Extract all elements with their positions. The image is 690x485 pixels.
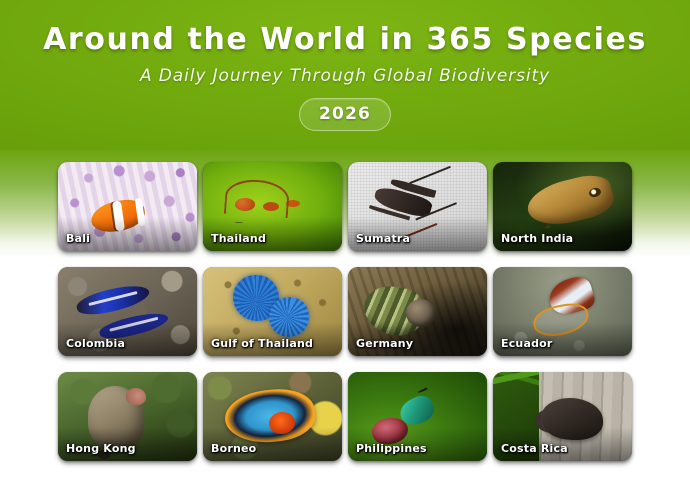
poster-root: Around the World in 365 Species A Daily … <box>0 0 690 485</box>
species-card[interactable]: Philippines <box>348 372 487 461</box>
species-card[interactable]: Germany <box>348 267 487 356</box>
species-card[interactable]: Colombia <box>58 267 197 356</box>
year-badge: 2026 <box>299 98 391 131</box>
species-card-label: Borneo <box>211 442 256 455</box>
page-subtitle: A Daily Journey Through Global Biodivers… <box>0 56 690 86</box>
species-card[interactable]: Costa Rica <box>493 372 632 461</box>
species-card[interactable]: Sumatra <box>348 162 487 251</box>
page-title: Around the World in 365 Species <box>0 0 690 56</box>
species-gallery-grid: BaliThailandSumatraNorth IndiaColombiaGu… <box>58 162 632 461</box>
species-card[interactable]: Thailand <box>203 162 342 251</box>
species-card-label: North India <box>501 232 573 245</box>
species-card-label: Philippines <box>356 442 427 455</box>
species-card-label: Costa Rica <box>501 442 568 455</box>
species-card[interactable]: Hong Kong <box>58 372 197 461</box>
species-card[interactable]: North India <box>493 162 632 251</box>
species-card-label: Gulf of Thailand <box>211 337 313 350</box>
species-card-label: Ecuador <box>501 337 553 350</box>
species-card-label: Colombia <box>66 337 125 350</box>
species-card[interactable]: Borneo <box>203 372 342 461</box>
species-card-label: Bali <box>66 232 90 245</box>
species-card[interactable]: Bali <box>58 162 197 251</box>
species-card-label: Hong Kong <box>66 442 136 455</box>
species-card[interactable]: Ecuador <box>493 267 632 356</box>
poster-header: Around the World in 365 Species A Daily … <box>0 0 690 150</box>
species-card-label: Thailand <box>211 232 266 245</box>
species-card-label: Germany <box>356 337 413 350</box>
species-card-label: Sumatra <box>356 232 410 245</box>
year-badge-container: 2026 <box>0 98 690 131</box>
species-card[interactable]: Gulf of Thailand <box>203 267 342 356</box>
